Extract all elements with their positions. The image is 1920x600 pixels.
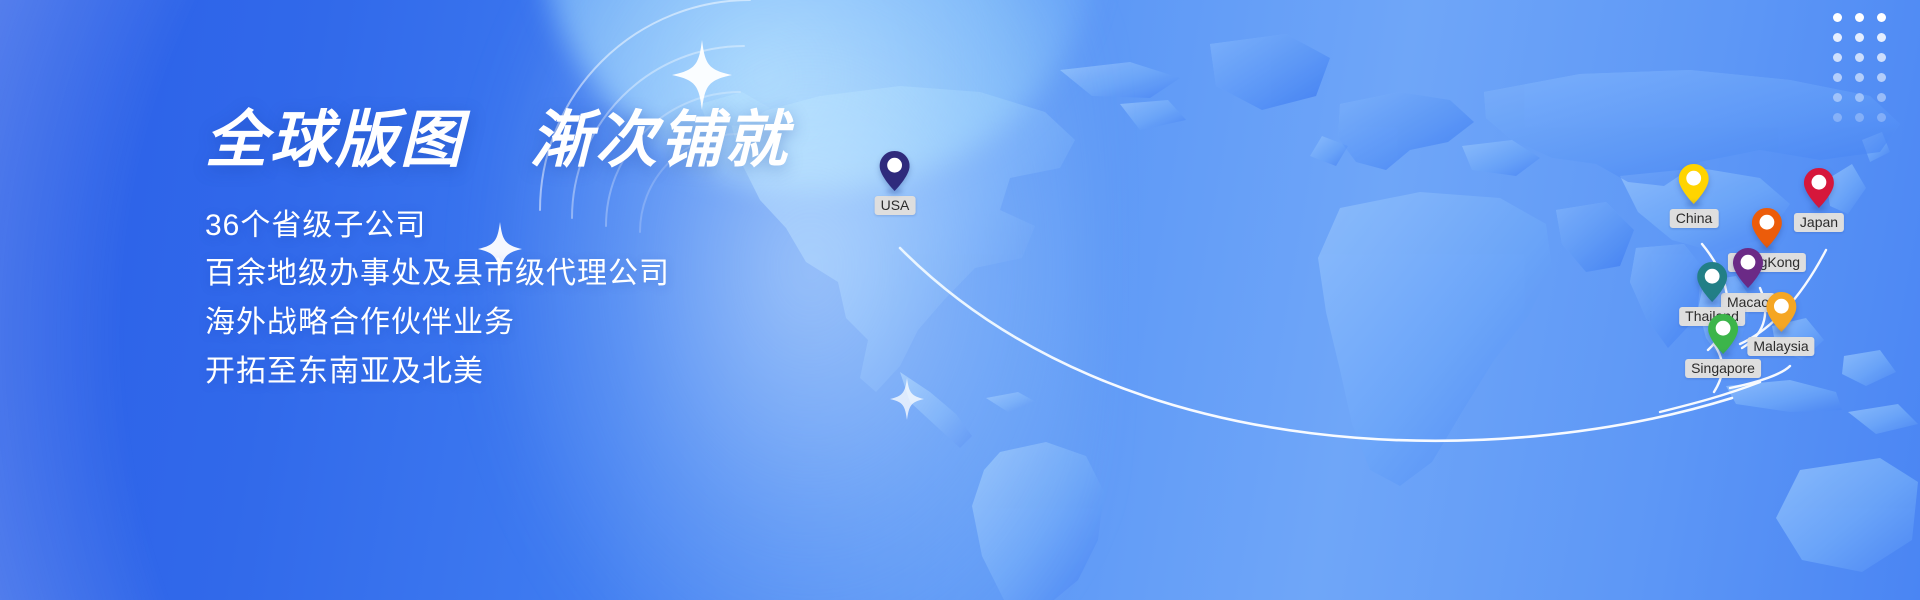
banner-bullet-1: 36个省级子公司 — [205, 202, 965, 251]
grid-dot — [1872, 88, 1894, 108]
map-marker-label: USA — [875, 196, 916, 215]
banner-bullet-text: 36个省级子公司 — [205, 209, 426, 242]
map-pin-icon — [1766, 292, 1796, 332]
map-pin-shadow — [886, 189, 904, 194]
grid-dot — [1872, 68, 1894, 88]
map-pin-shadow — [1714, 352, 1732, 357]
grid-dot — [1828, 108, 1850, 128]
map-pin-icon — [1708, 314, 1738, 354]
banner-bullet-2: 百余地级办事处及县市级代理公司 — [205, 250, 965, 299]
grid-dot — [1872, 48, 1894, 68]
grid-dot — [1828, 28, 1850, 48]
grid-dot — [1872, 28, 1894, 48]
global-map-banner: 全球版图 渐次铺就 36个省级子公司百余地级办事处及县市级代理公司海外战略合作伙… — [0, 0, 1920, 600]
grid-dot — [1850, 108, 1872, 128]
map-pin-shadow — [1810, 206, 1828, 211]
grid-dot — [1850, 48, 1872, 68]
banner-bullet-3: 海外战略合作伙伴业务 — [205, 299, 965, 348]
map-pin-icon — [1697, 262, 1727, 302]
banner-text-block: 全球版图 渐次铺就 36个省级子公司百余地级办事处及县市级代理公司海外战略合作伙… — [205, 108, 965, 396]
map-pin-shadow — [1703, 300, 1721, 305]
map-pin-icon — [1679, 164, 1709, 204]
decorative-dot-grid — [1828, 8, 1894, 128]
grid-dot — [1850, 8, 1872, 28]
grid-dot — [1828, 88, 1850, 108]
map-marker-china[interactable]: China — [1670, 164, 1719, 228]
map-marker-usa[interactable]: USA — [875, 151, 916, 215]
map-marker-label: Malaysia — [1747, 337, 1814, 356]
map-pin-icon — [1804, 168, 1834, 208]
map-marker-malaysia[interactable]: Malaysia — [1747, 292, 1814, 356]
banner-bullet-text: 百余地级办事处及县市级代理公司 — [205, 257, 670, 290]
grid-dot — [1850, 28, 1872, 48]
grid-dot — [1850, 68, 1872, 88]
banner-bullet-list: 36个省级子公司百余地级办事处及县市级代理公司海外战略合作伙伴业务开拓至东南亚及… — [205, 202, 965, 396]
banner-bullet-text: 海外战略合作伙伴业务 — [205, 306, 515, 339]
page-title: 全球版图 渐次铺就 — [205, 108, 965, 174]
route-lines — [900, 248, 1732, 441]
grid-dot — [1850, 88, 1872, 108]
grid-dot — [1872, 108, 1894, 128]
grid-dot — [1828, 48, 1850, 68]
map-marker-label: China — [1670, 209, 1719, 228]
map-marker-label: Singapore — [1685, 359, 1761, 378]
map-pin-shadow — [1685, 202, 1703, 207]
grid-dot — [1828, 68, 1850, 88]
grid-dot — [1872, 8, 1894, 28]
banner-bullet-text: 开拓至东南亚及北美 — [205, 355, 484, 388]
banner-bullet-4: 开拓至东南亚及北美 — [205, 348, 965, 397]
map-pin-icon — [880, 151, 910, 191]
map-pin-icon — [1752, 208, 1782, 248]
grid-dot — [1828, 8, 1850, 28]
map-pin-shadow — [1772, 330, 1790, 335]
